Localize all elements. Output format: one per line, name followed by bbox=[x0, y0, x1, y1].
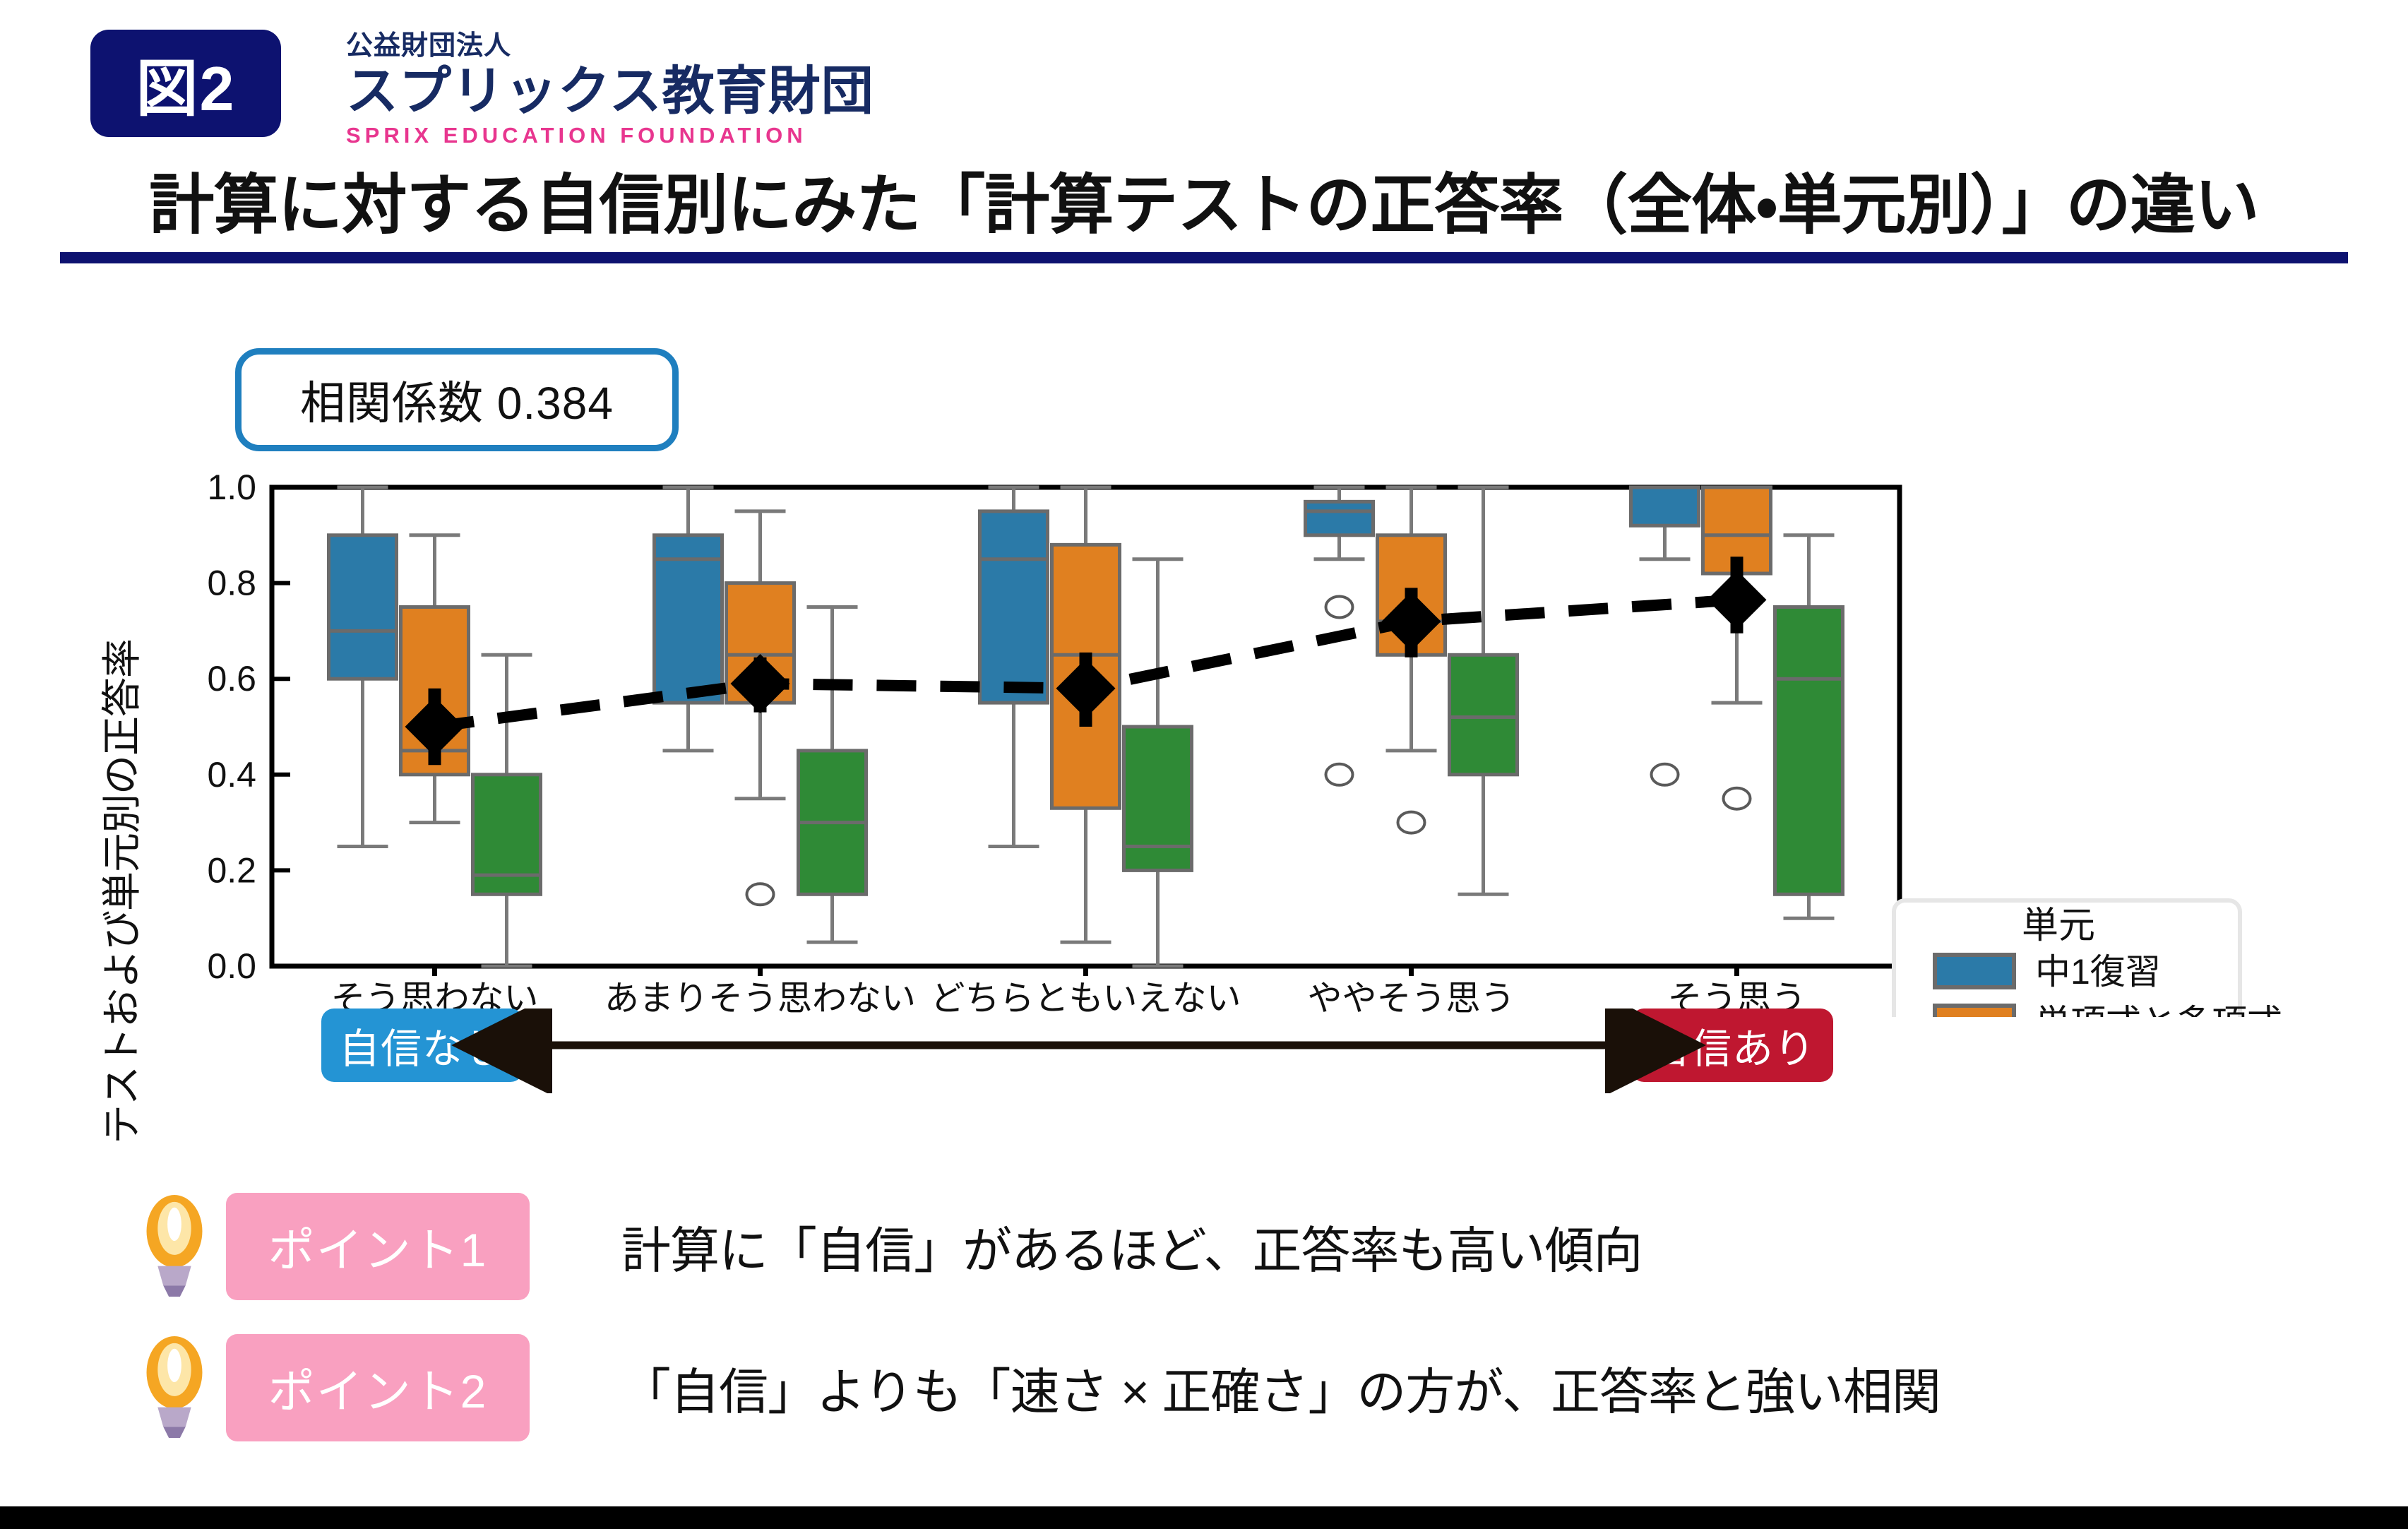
confidence-scale: 自信なし 自信あり bbox=[0, 1009, 2408, 1093]
page-title: 計算に対する自信別にみた「計算テストの正答率（全体・単元別）」の違い bbox=[0, 169, 2408, 242]
org-name-en-label: SPRIX EDUCATION FOUNDATION bbox=[346, 124, 874, 146]
box bbox=[1631, 487, 1699, 525]
legend-title: 単元 bbox=[2022, 905, 2095, 946]
box bbox=[1775, 607, 1843, 895]
point-text-2: 「自信」よりも「速さ × 正確さ」の方が、正答率と強い相関 bbox=[621, 1352, 1941, 1424]
chart-legend: 単元中1復習単項式と多項式連立方程式全体平均 bbox=[1894, 900, 2282, 1017]
box bbox=[1450, 655, 1518, 775]
lightbulb-icon bbox=[138, 1194, 211, 1299]
y-axis-tick-label: 0.8 bbox=[207, 564, 256, 603]
footer-bar bbox=[0, 1506, 2408, 1529]
point-text-1: 計算に「自信」があるほど、正答率も高い傾向 bbox=[621, 1211, 1643, 1283]
chart-svg: 0.00.20.40.60.81.0そう思わないあまりそう思わないどちらともいえ… bbox=[0, 452, 2408, 1017]
boxplot-chart: テストおよび単元別の正答率 0.00.20.40.60.81.0そう思わないあま… bbox=[0, 452, 2408, 1017]
box bbox=[980, 511, 1048, 703]
org-name-label: スプリックス教育財団 bbox=[346, 65, 874, 117]
org-prefix-label: 公益財団法人 bbox=[346, 32, 874, 59]
title-underline-rule bbox=[60, 252, 2348, 263]
point-row-1: ポイント1 計算に「自信」があるほど、正答率も高い傾向 bbox=[0, 1176, 2408, 1317]
header: 図2 公益財団法人 スプリックス教育財団 SPRIX EDUCATION FOU… bbox=[0, 0, 2408, 177]
correlation-coefficient-badge: 相関係数 0.384 bbox=[235, 348, 679, 451]
lightbulb-icon bbox=[138, 1335, 211, 1441]
point-row-2: ポイント2 「自信」よりも「速さ × 正確さ」の方が、正答率と強い相関 bbox=[0, 1317, 2408, 1458]
legend-swatch bbox=[1935, 955, 2014, 987]
title-section: 計算に対する自信別にみた「計算テストの正答率（全体・単元別）」の違い bbox=[0, 169, 2408, 263]
box bbox=[1306, 501, 1373, 535]
y-axis-tick-label: 0.0 bbox=[207, 946, 256, 986]
point-tag-2: ポイント2 bbox=[226, 1334, 530, 1441]
legend-label: 中1復習 bbox=[2035, 952, 2161, 992]
organization-logo: 公益財団法人 スプリックス教育財団 SPRIX EDUCATION FOUNDA… bbox=[346, 32, 874, 146]
y-axis-tick-label: 1.0 bbox=[207, 468, 256, 507]
box bbox=[329, 535, 397, 679]
y-axis-tick-label: 0.6 bbox=[207, 659, 256, 698]
slide-root: 図2 公益財団法人 スプリックス教育財団 SPRIX EDUCATION FOU… bbox=[0, 0, 2408, 1529]
figure-number-badge: 図2 bbox=[90, 30, 281, 137]
confidence-arrow-icon bbox=[0, 1009, 2408, 1093]
y-axis-tick-label: 0.4 bbox=[207, 755, 256, 795]
box bbox=[1124, 727, 1192, 870]
point-tag-1: ポイント1 bbox=[226, 1193, 530, 1300]
y-axis-tick-label: 0.2 bbox=[207, 850, 256, 890]
points-section: ポイント1 計算に「自信」があるほど、正答率も高い傾向 ポイント2 「自信」より… bbox=[0, 1176, 2408, 1458]
